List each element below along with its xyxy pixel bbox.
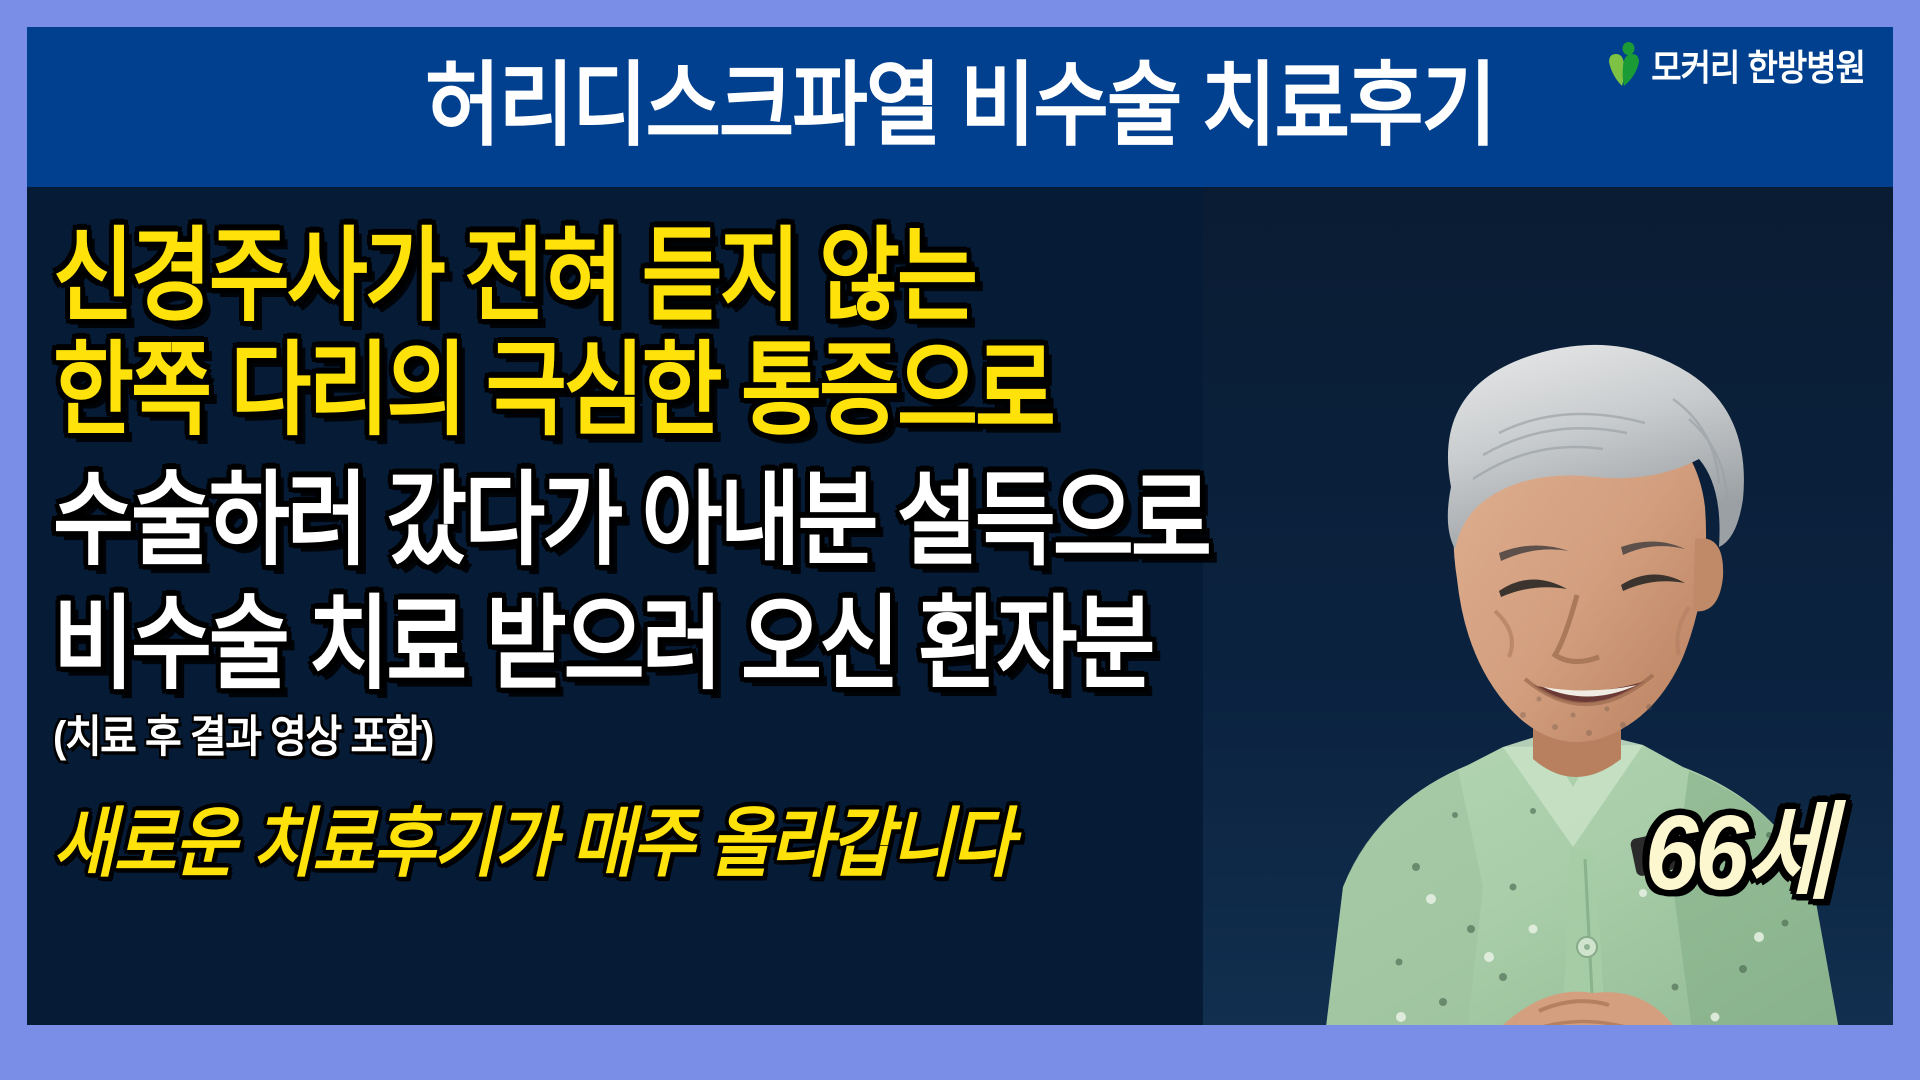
headline-block: 신경주사가 전혀 듣지 않는 한쪽 다리의 극심한 통증으로 수술하러 갔다가 … xyxy=(53,195,1373,880)
page-title: 허리디스크파열 비수술 치료후기 xyxy=(425,61,1495,153)
weekly-update-tagline: 새로운 치료후기가 매주 올라갑니다 xyxy=(53,781,1373,892)
headline-line-1: 신경주사가 전혀 듣지 않는 xyxy=(53,225,1373,327)
thumbnail-root: 허리디스크파열 비수술 치료후기 xyxy=(0,0,1920,1080)
headline-line-3: 수술하러 갔다가 아내분 설득으로 xyxy=(53,469,1373,571)
thumbnail-inner: 허리디스크파열 비수술 치료후기 xyxy=(27,27,1893,1025)
leaf-heart-icon xyxy=(1606,42,1642,88)
age-badge: 66세 xyxy=(1645,767,1831,920)
headline-line-4: 비수술 치료 받으러 오신 환자분 xyxy=(53,593,1373,695)
brand-name: 모커리 한방병원 xyxy=(1651,39,1865,91)
headline-line-2: 한쪽 다리의 극심한 통증으로 xyxy=(53,339,1373,441)
brand-logo: 모커리 한방병원 xyxy=(1606,41,1865,89)
headline-note: (치료 후 결과 영상 포함) xyxy=(53,701,1373,765)
